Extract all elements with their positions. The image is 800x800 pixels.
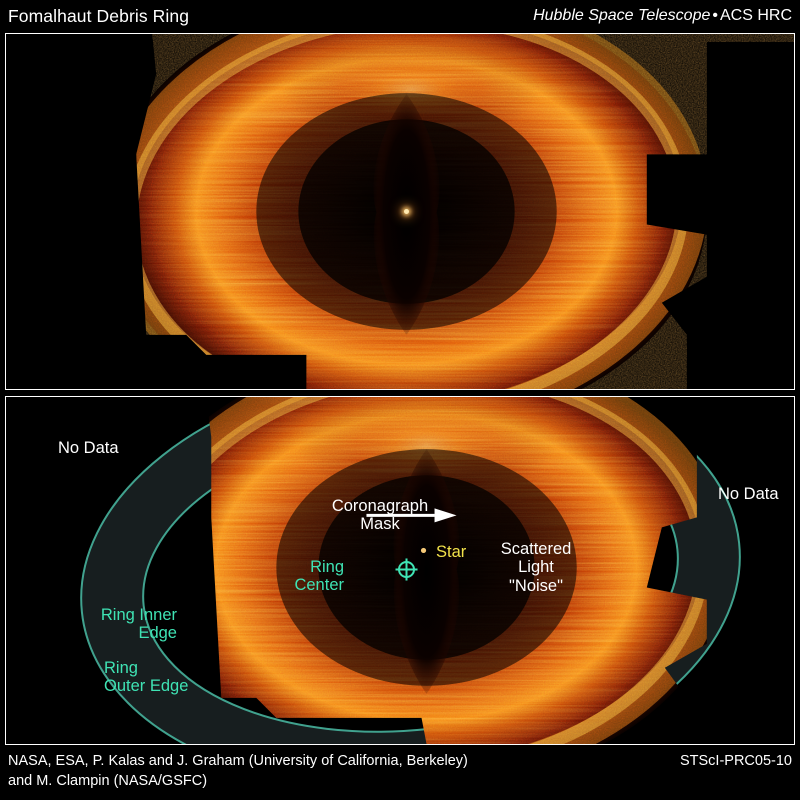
header-bar: Fomalhaut Debris Ring Hubble Space Teles… [0,0,800,32]
annotation-coronagraph-mask: Coronagraph Mask [290,497,470,534]
annotation-ring-outer-edge: Ring Outer Edge [104,659,264,696]
star-point-top [404,209,409,214]
panel-annotated-image: No Data No Data Coronagraph Mask Star Ri… [5,396,795,745]
annotation-no-data-left: No Data [58,439,119,457]
sky-background-top [6,34,794,389]
annotation-star: Star [436,543,466,561]
footer-bar: NASA, ESA, P. Kalas and J. Graham (Unive… [0,748,800,800]
bullet-separator-icon: • [710,7,720,24]
annotation-scattered-light: Scattered Light "Noise" [476,540,596,595]
panel-unannotated-image [5,33,795,390]
telescope-name: Hubble Space Telescope [533,7,710,24]
annotation-ring-center: Ring Center [264,558,344,595]
instrument-name: ACS HRC [720,7,792,24]
annotation-ring-inner-edge: Ring Inner Edge [67,606,177,643]
image-canvas: Fomalhaut Debris Ring Hubble Space Teles… [0,0,800,800]
sky-background-bottom: No Data No Data Coronagraph Mask Star Ri… [6,397,794,744]
credit-text: NASA, ESA, P. Kalas and J. Graham (Unive… [8,752,468,791]
star-dot-marker [421,548,426,553]
instrument-credit: Hubble Space Telescope•ACS HRC [533,7,792,25]
acs-hrc-field-top [6,34,794,389]
page-title: Fomalhaut Debris Ring [8,6,189,27]
annotation-no-data-right: No Data [718,485,779,503]
release-id: STScI-PRC05-10 [680,752,792,769]
